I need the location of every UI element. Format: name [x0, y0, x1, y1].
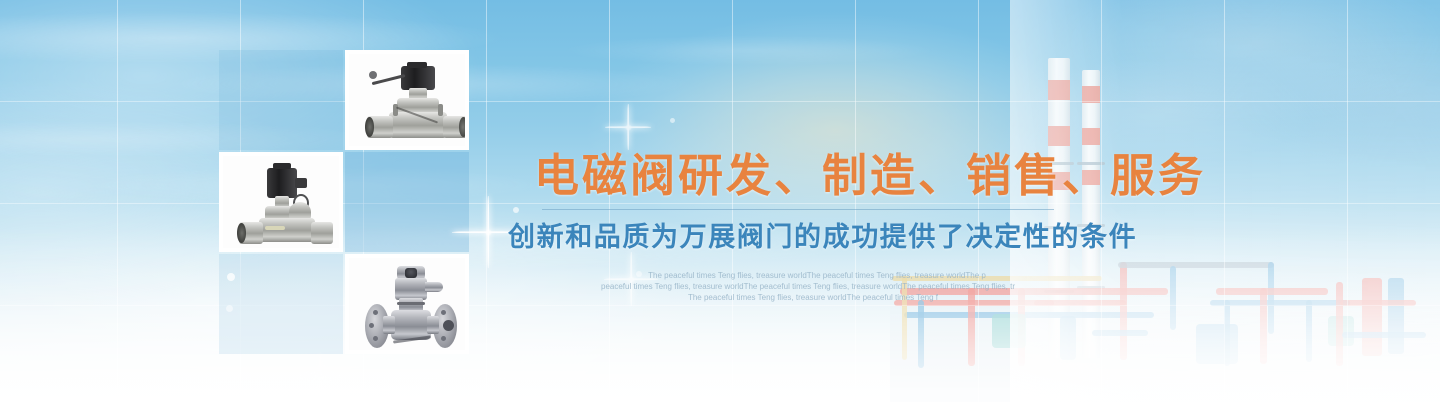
- headline-divider: [542, 209, 1054, 210]
- banner-blurb: The peaceful times Teng flies, treasure …: [508, 270, 1108, 303]
- hero-banner: 电磁阀研发、制造、销售、服务 创新和品质为万展阀门的成功提供了决定性的条件 Th…: [0, 0, 1440, 420]
- product-tile-2[interactable]: [219, 152, 343, 252]
- solenoid-valve-brass-inline-icon: [223, 156, 339, 248]
- solenoid-valve-threaded-horizontal-icon: [349, 54, 465, 146]
- blurb-line-2: peaceful times Teng flies, treasure worl…: [508, 281, 1108, 292]
- blurb-line-1: The peaceful times Teng flies, treasure …: [508, 270, 1108, 281]
- product-mosaic: [219, 50, 469, 356]
- product-tile-1[interactable]: [345, 50, 469, 150]
- mosaic-cell: [345, 152, 469, 252]
- solenoid-valve-flanged-icon: [349, 258, 465, 350]
- product-tile-3[interactable]: [345, 254, 469, 354]
- banner-headline: 电磁阀研发、制造、销售、服务: [508, 148, 1108, 204]
- mosaic-cell: [219, 50, 343, 150]
- blurb-line-3: The peaceful times Teng flies, treasure …: [508, 292, 1108, 303]
- banner-subheadline: 创新和品质为万展阀门的成功提供了决定性的条件: [508, 220, 1108, 254]
- banner-copy: 电磁阀研发、制造、销售、服务 创新和品质为万展阀门的成功提供了决定性的条件 Th…: [508, 148, 1108, 303]
- mosaic-cell: [219, 254, 343, 354]
